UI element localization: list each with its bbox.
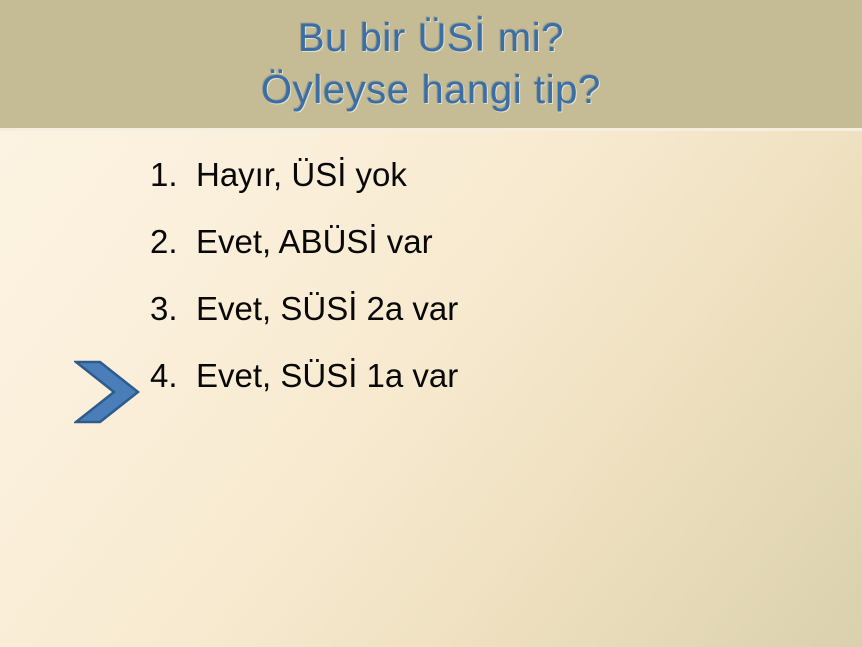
chevron-right-icon — [74, 359, 141, 425]
answer-option-1[interactable]: 1. Hayır, ÜSİ yok — [150, 153, 458, 220]
answer-label: Hayır, ÜSİ yok — [196, 153, 407, 197]
answer-number: 3. — [150, 287, 196, 331]
answer-option-2[interactable]: 2. Evet, ABÜSİ var — [150, 220, 458, 287]
answer-label: Evet, SÜSİ 1a var — [196, 354, 458, 398]
answer-number: 4. — [150, 354, 196, 398]
title-banner: Bu bir ÜSİ mi? Öyleyse hangi tip? — [0, 0, 862, 128]
slide-canvas: Bu bir ÜSİ mi? Öyleyse hangi tip? 1. Hay… — [0, 0, 862, 647]
title-line-1: Bu bir ÜSİ mi? — [298, 12, 564, 64]
answer-option-4[interactable]: 4. Evet, SÜSİ 1a var — [150, 354, 458, 421]
answer-label: Evet, ABÜSİ var — [196, 220, 433, 264]
answer-option-3[interactable]: 3. Evet, SÜSİ 2a var — [150, 287, 458, 354]
answer-label: Evet, SÜSİ 2a var — [196, 287, 458, 331]
answer-number: 2. — [150, 220, 196, 264]
title-line-2: Öyleyse hangi tip? — [261, 64, 601, 116]
answer-list: 1. Hayır, ÜSİ yok 2. Evet, ABÜSİ var 3. … — [150, 153, 458, 421]
answer-number: 1. — [150, 153, 196, 197]
